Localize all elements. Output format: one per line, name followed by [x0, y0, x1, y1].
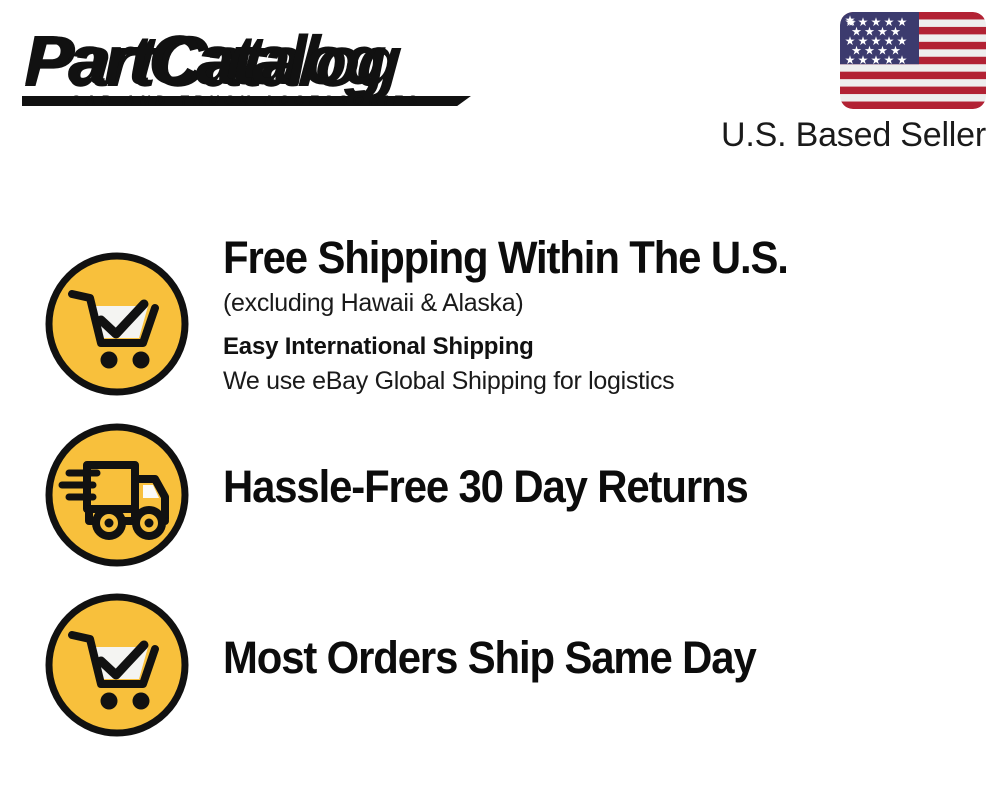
feature-text-returns: Hassle-Free 30 Day Returns	[223, 464, 988, 510]
headline-same-day: Most Orders Ship Same Day	[223, 635, 934, 681]
us-flag-icon	[840, 12, 986, 109]
brand-logo-wordmark: PartCatalog	[24, 24, 494, 96]
delivery-truck-icon	[43, 421, 191, 569]
shopping-cart-check-icon	[43, 250, 191, 398]
brand-logo-tagline: CAR AND TRUCK ACCESSORIES	[70, 92, 470, 110]
headline-free-shipping: Free Shipping Within The U.S.	[223, 235, 934, 281]
feature-text-same-day: Most Orders Ship Same Day	[223, 635, 988, 681]
subline-ebay-global-shipping: We use eBay Global Shipping for logistic…	[223, 366, 988, 397]
logo-word-part: Part	[24, 24, 148, 96]
logo-word-catalog: Catalog	[148, 24, 384, 96]
tagline-text: CAR AND TRUCK ACCESSORIES	[70, 92, 422, 108]
headline-returns: Hassle-Free 30 Day Returns	[223, 464, 934, 510]
seller-note: U.S. Based Seller	[721, 116, 986, 155]
feature-text-shipping: Free Shipping Within The U.S. (excluding…	[223, 235, 988, 396]
subline-international-shipping: Easy International Shipping	[223, 332, 988, 361]
subline-exclusions: (excluding Hawaii & Alaska)	[223, 288, 988, 319]
shopping-cart-check-icon	[43, 591, 191, 739]
